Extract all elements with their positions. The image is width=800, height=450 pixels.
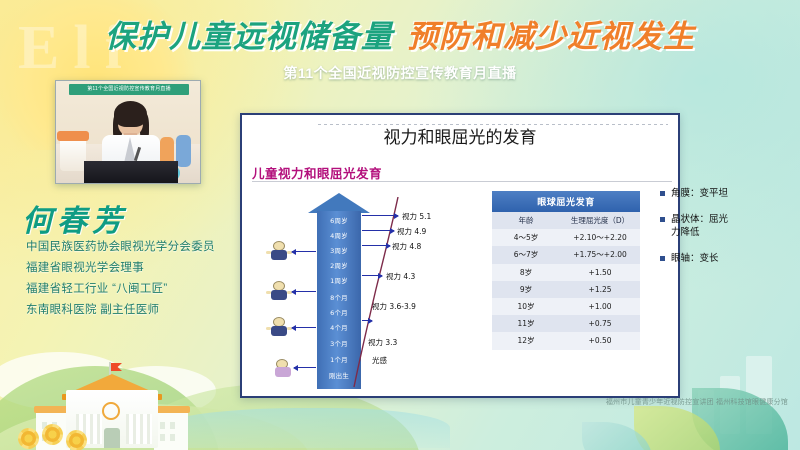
acuity-label: 视力 4.9 xyxy=(397,226,426,237)
page-title: 保护儿童远视储备量预防和减少近视发生 xyxy=(0,18,800,56)
livestream-video-player[interactable]: 第11个全国近视防控宣传教育月直播 xyxy=(55,80,201,184)
table-row: 12岁+0.50 xyxy=(492,332,640,349)
acuity-label: 视力 3.6-3.9 xyxy=(372,301,416,312)
table-cell-diopter: +1.50 xyxy=(560,264,640,281)
video-banner-label: 第11个全国近视防控宣传教育月直播 xyxy=(69,84,189,95)
table-cell-age: 6～7岁 xyxy=(492,246,560,263)
pointer-arrow xyxy=(292,291,316,292)
acuity-label: 光感 xyxy=(372,355,387,366)
pointer-arrow xyxy=(294,367,316,368)
acuity-label: 视力 4.8 xyxy=(392,241,421,252)
bullet-item: 晶状体：屈光力降低 xyxy=(660,213,730,239)
presenter-credentials: 中国民族医药协会眼视光学分会委员 福建省眼视光学会理事 福建省轻工行业 “八闽工… xyxy=(26,237,241,321)
bullet-square-icon xyxy=(660,191,665,196)
bullet-text: 晶状体：屈光力降低 xyxy=(671,214,728,238)
title-segment-orange: 预防和减少近视发生 xyxy=(407,19,695,55)
table-cell-diopter: +2.10～+2.20 xyxy=(560,229,640,246)
acuity-connector xyxy=(362,275,382,276)
slide-subtitle: 儿童视力和眼屈光发育 xyxy=(252,163,382,182)
table-column-header: 年龄 xyxy=(492,212,560,229)
bullet-text: 角膜：变平坦 xyxy=(671,188,728,199)
acuity-connector xyxy=(362,320,372,321)
table-row: 8岁+1.50 xyxy=(492,264,640,281)
table-cell-age: 12岁 xyxy=(492,332,560,349)
credential-item: 中国民族医药协会眼视光学分会委员 xyxy=(26,237,241,258)
child-icon xyxy=(268,317,290,337)
acuity-label: 视力 4.3 xyxy=(386,271,415,282)
title-segment-green: 保护儿童远视储备量 xyxy=(105,19,393,55)
table-row: 9岁+1.25 xyxy=(492,281,640,298)
bullet-text: 眼轴：变长 xyxy=(671,253,719,264)
table-column-header: 生理屈光度（D） xyxy=(560,212,640,229)
table-cell-age: 4～5岁 xyxy=(492,229,560,246)
acuity-connector xyxy=(362,245,390,246)
credential-item: 福建省轻工行业 “八闽工匠” xyxy=(26,279,241,300)
presentation-slide[interactable]: 视力和眼屈光的发育 儿童视力和眼屈光发育 6周岁 4周岁 xyxy=(240,113,680,398)
podium xyxy=(84,161,178,183)
screen-root: Eli 保护儿童远视储备量预防和减少近视发生 xyxy=(0,0,800,450)
table-cell-diopter: +1.00 xyxy=(560,298,640,315)
bullet-list: 角膜：变平坦 晶状体：屈光力降低 眼轴：变长 xyxy=(660,187,730,278)
flowers-decoration xyxy=(16,424,136,450)
backdrop-roof-icon xyxy=(57,131,89,141)
pointer-arrow xyxy=(292,251,316,252)
acuity-label: 视力 5.1 xyxy=(402,211,431,222)
table-header: 眼球屈光发育 xyxy=(492,191,640,212)
table-row: 10岁+1.00 xyxy=(492,298,640,315)
table-cell-age: 10岁 xyxy=(492,298,560,315)
slide-rule xyxy=(252,181,672,182)
acuity-connector xyxy=(362,215,398,216)
video-frame: 第11个全国近视防控宣传教育月直播 xyxy=(56,81,200,183)
refraction-table: 眼球屈光发育 年龄 生理屈光度（D） 4～5岁+2.10～+2.20 6～7岁+… xyxy=(492,191,640,350)
pointer-arrow xyxy=(292,327,316,328)
slide-title: 视力和眼屈光的发育 xyxy=(242,123,678,148)
baby-icon xyxy=(272,357,294,377)
credential-item: 东南眼科医院 副主任医师 xyxy=(26,300,241,321)
table-cell-diopter: +0.75 xyxy=(560,315,640,332)
backdrop-house-icon xyxy=(60,137,86,171)
table-cell-diopter: +1.25 xyxy=(560,281,640,298)
table-row: 4～5岁+2.10～+2.20 xyxy=(492,229,640,246)
bullet-square-icon xyxy=(660,256,665,261)
child-icon xyxy=(268,241,290,261)
table-cell-age: 9岁 xyxy=(492,281,560,298)
header: 保护儿童远视储备量预防和减少近视发生 第11个全国近视防控宣传教育月直播 xyxy=(0,18,800,83)
child-icon xyxy=(268,281,290,301)
table-cell-age: 11岁 xyxy=(492,315,560,332)
table-row: 6～7岁+1.75～+2.00 xyxy=(492,246,640,263)
presenter-name: 何春芳 xyxy=(22,196,212,240)
acuity-label: 视力 3.3 xyxy=(368,337,397,348)
bullet-item: 角膜：变平坦 xyxy=(660,187,730,200)
bullet-square-icon xyxy=(660,217,665,222)
footer-credit: 福州市儿童青少年近视防控宣讲团 福州科技馆眼健康分馆 xyxy=(528,397,788,407)
table-cell-diopter: +0.50 xyxy=(560,332,640,349)
acuity-connector xyxy=(362,230,394,231)
table-cell-age: 8岁 xyxy=(492,264,560,281)
table-row: 11岁+0.75 xyxy=(492,315,640,332)
credential-item: 福建省眼视光学会理事 xyxy=(26,258,241,279)
bullet-item: 眼轴：变长 xyxy=(660,252,730,265)
table-cell-diopter: +1.75～+2.00 xyxy=(560,246,640,263)
river-decoration xyxy=(150,408,450,448)
backdrop-child-b xyxy=(176,135,191,167)
